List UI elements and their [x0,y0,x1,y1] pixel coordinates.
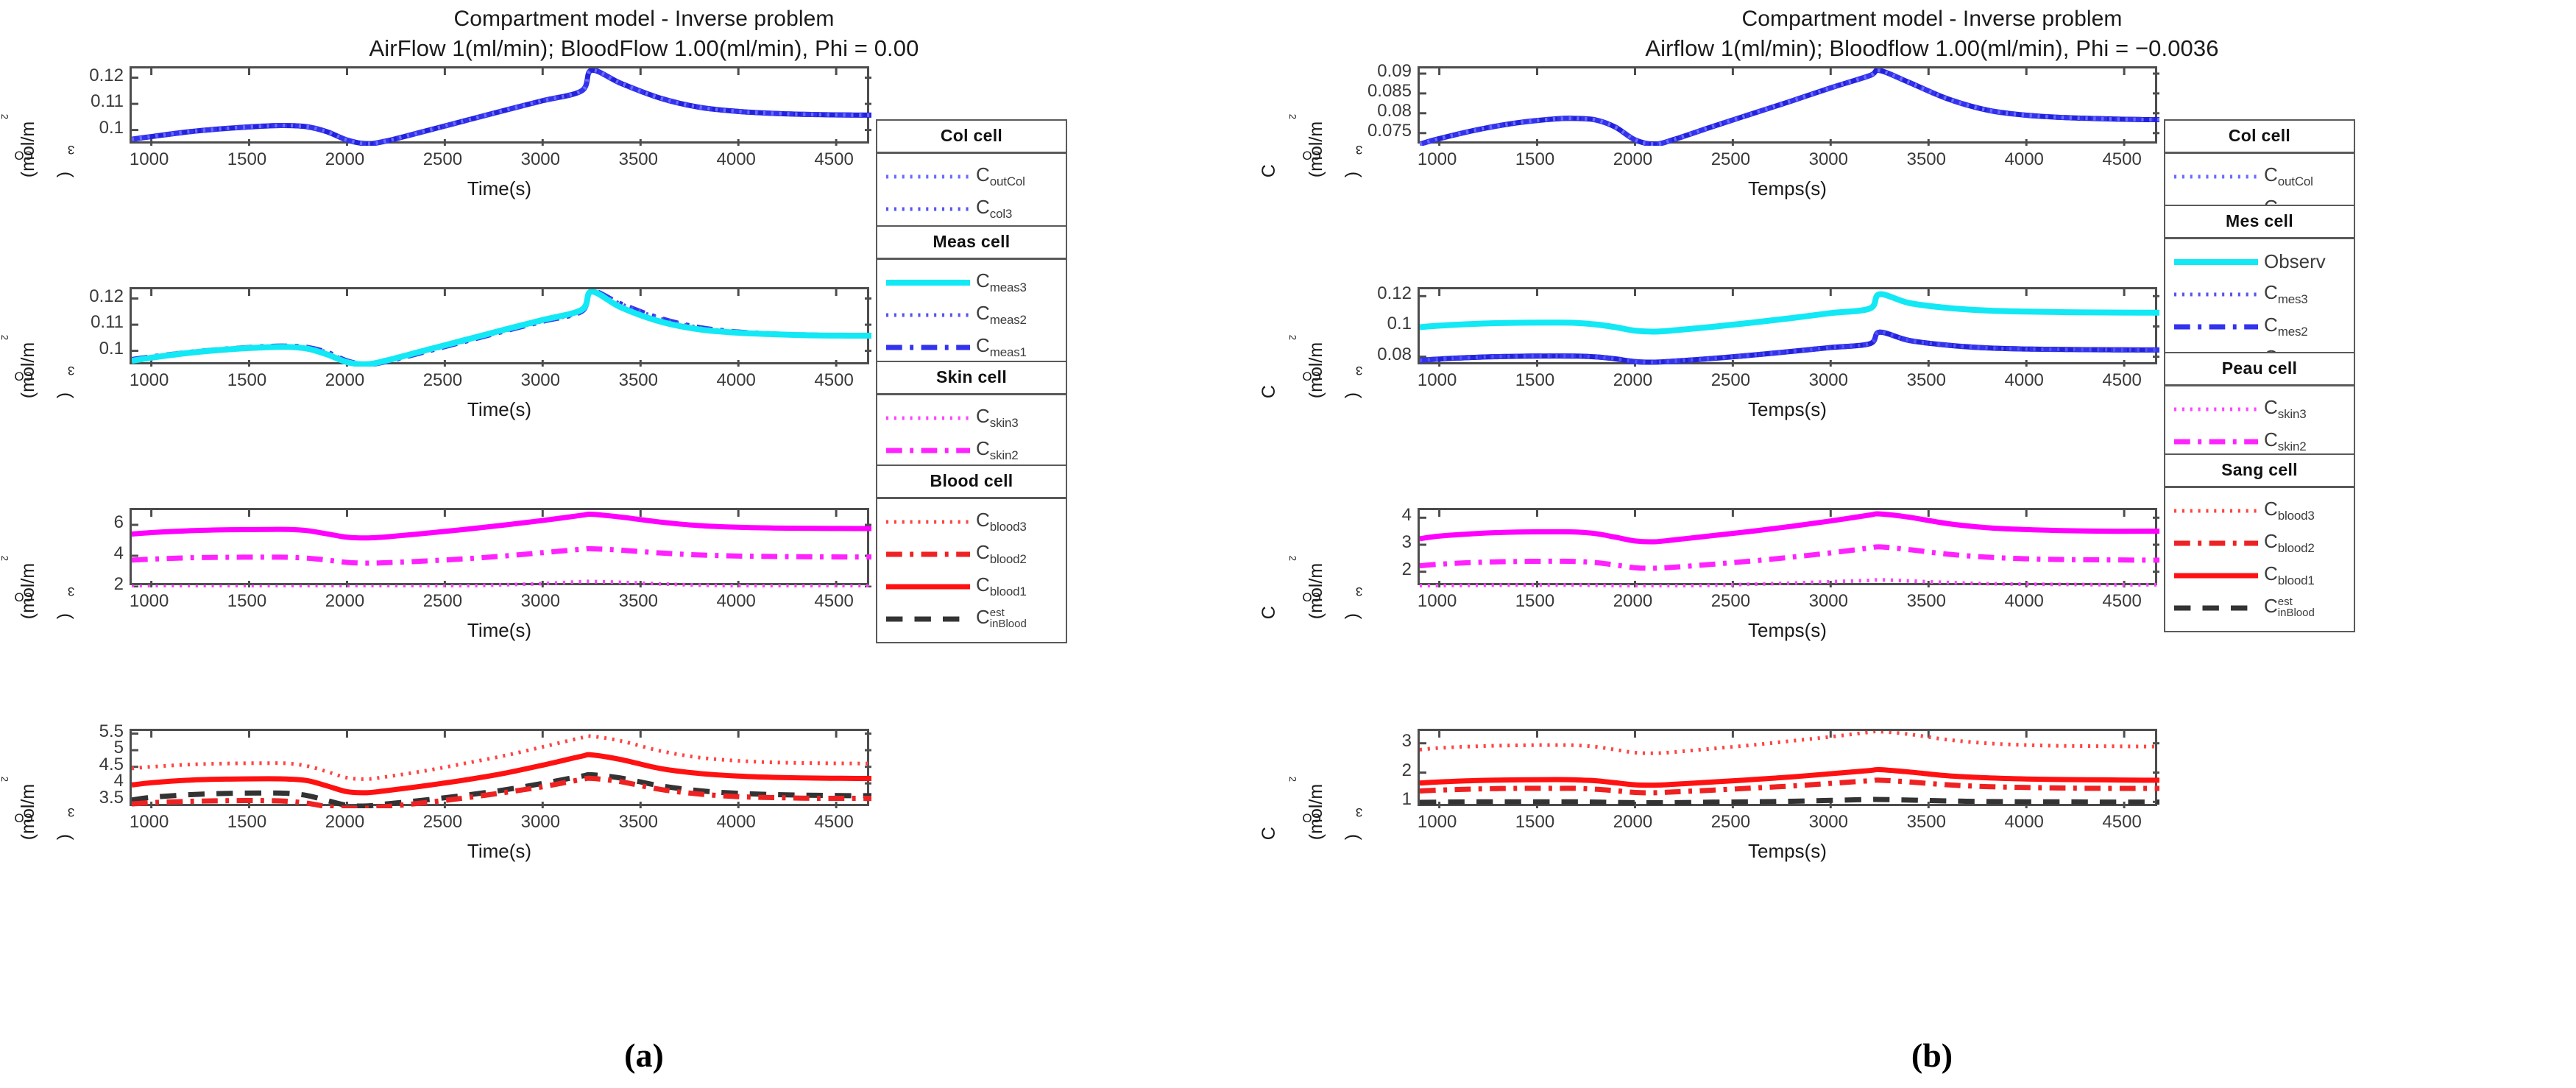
axes-wrapper: 32110001500200025003000350040004500Temps… [1329,729,2157,806]
x-tick: 2500 [423,370,462,391]
axes-wrapper: 43210001500200025003000350040004500Temps… [1329,508,2157,585]
y-axis-label: CCO2 (mol/m3) [3,499,43,683]
y-tick: 0.09 [1377,61,1412,82]
title-line-1: Compartment model - Inverse problem [1288,4,2576,34]
legend-line-swatch [885,278,972,288]
x-tick: 3500 [1907,370,1946,391]
y-tick: 2 [114,574,124,595]
legend-items: Cmeas3Cmeas2Cmeas1 [877,260,1066,370]
legend-entry[interactable]: Cmes3 [2173,278,2346,310]
x-tick: 2500 [1711,149,1750,170]
legend-label: Cblood3 [976,509,1027,531]
y-tick: 3 [1402,731,1412,752]
panel-caption: (b) [1288,1036,2576,1075]
legend-line-swatch [2173,289,2260,300]
y-tick: 1 [1402,789,1412,810]
y-axis-label: CCO2 (mol/m3) [1291,499,1331,683]
x-tick: 1500 [227,591,266,612]
x-tick: 2500 [423,149,462,170]
panel-b: Compartment model - Inverse problemAirfl… [1288,0,2576,1088]
legend-entry[interactable]: CoutCol [885,160,1058,192]
y-axis-label: CCO2 (mol/m3) [1291,57,1331,241]
x-tick: 3000 [1809,812,1848,833]
x-tick: 4000 [2004,591,2043,612]
y-tick-labels: 0.120.110.1 [41,287,128,364]
x-tick: 3000 [521,149,560,170]
x-tick: 2000 [1613,812,1652,833]
y-tick-labels: 0.120.10.08 [1329,287,1416,364]
legend-blood-cell: Blood cellCblood3Cblood2Cblood1CestinBlo… [876,464,1067,643]
legend-swatch [2173,289,2260,298]
legend-line-swatch [885,342,972,353]
x-tick: 4000 [716,149,755,170]
x-tick: 1500 [227,812,266,833]
plot-area [130,66,869,144]
y-tick: 0.075 [1367,121,1412,141]
axes-wrapper: 64210001500200025003000350040004500Time(… [41,508,869,585]
legend-label: CestinBlood [976,606,1027,628]
y-tick: 0.12 [89,66,124,86]
y-axis-label: CCO2 (mol/m3) [3,278,43,462]
legend-swatch [885,204,972,213]
subplot-col-cell: CCO2 (mol/m3)0.090.0850.080.075100015002… [1288,57,2576,278]
x-tick: 4500 [2102,149,2141,170]
legend-label: Cmeas3 [976,269,1027,292]
legend-swatch [885,172,972,180]
legend-entry[interactable]: Cblood1 [2173,559,2346,591]
legend-label: Observ [2264,250,2326,272]
legend-entry[interactable]: Cblood2 [885,537,1058,570]
legend-title: Mes cell [2165,206,2354,239]
x-tick: 3500 [619,149,658,170]
x-tick: 2000 [325,591,364,612]
x-axis-label: Temps(s) [1748,177,1827,200]
legend-line-swatch [2173,404,2260,414]
plot-area [130,729,869,806]
title-line-1: Compartment model - Inverse problem [0,4,1288,34]
legend-line-swatch [2173,603,2260,613]
legend-label: Cskin2 [976,437,1018,459]
legend-swatch [885,310,972,319]
x-axis-label: Temps(s) [1748,398,1827,421]
legend-entry[interactable]: Cmeas2 [885,298,1058,331]
legend-entry[interactable]: Cmeas3 [885,266,1058,298]
plot-area [1418,729,2157,806]
x-tick: 2000 [325,370,364,391]
legend-swatch [885,342,972,351]
x-tick: 3000 [1809,370,1848,391]
plot-area [130,287,869,364]
x-tick: 1500 [1515,149,1554,170]
legend-swatch [885,517,972,526]
x-tick: 4000 [716,370,755,391]
subplot-peau-cell: CCO2 (mol/m3)432100015002000250030003500… [1288,499,2576,720]
x-tick: 1000 [1418,591,1457,612]
legend-swatch [885,413,972,422]
legend-swatch [885,582,972,590]
subplot-mes-cell: CCO2 (mol/m3)0.120.10.081000150020002500… [1288,278,2576,499]
legend-title: Peau cell [2165,353,2354,386]
subplot-col-cell: CCO2 (mol/m3)0.120.110.11000150020002500… [0,57,1288,278]
x-axis-label: Time(s) [467,398,531,421]
y-tick: 3 [1402,532,1412,553]
y-tick: 0.12 [89,286,124,307]
y-axis-label: CCO2 (mol/m3) [3,720,43,904]
x-tick: 4500 [814,370,853,391]
legend-label: Cblood1 [976,573,1027,596]
x-tick: 3500 [619,591,658,612]
legend-line-swatch [2173,257,2260,267]
legend-sang-cell: Sang cellCblood3Cblood2Cblood1CestinBloo… [2164,453,2355,632]
x-tick: 1000 [1418,370,1457,391]
legend-swatch [2173,257,2260,266]
legend-line-swatch [885,517,972,527]
x-tick: 3500 [619,812,658,833]
legend-swatch [2173,538,2260,547]
y-tick-labels: 5.554.543.5 [41,729,128,806]
legend-swatch [2173,437,2260,445]
x-tick: 2000 [1613,149,1652,170]
x-tick: 3000 [1809,591,1848,612]
legend-line-swatch [2173,437,2260,447]
legend-label: Cmeas1 [976,334,1027,356]
x-tick: 4000 [2004,370,2043,391]
legend-line-swatch [885,582,972,592]
legend-swatch [2173,506,2260,515]
legend-line-swatch [885,549,972,559]
legend-line-swatch [885,413,972,423]
y-tick: 0.11 [91,312,124,333]
x-tick: 1000 [130,591,169,612]
x-tick: 2500 [1711,370,1750,391]
x-tick: 2000 [1613,591,1652,612]
x-tick: 3000 [521,591,560,612]
legend-swatch [885,445,972,454]
legend-entry[interactable]: CestinBlood [2173,591,2346,624]
x-tick: 1000 [130,149,169,170]
legend-line-swatch [885,614,972,624]
legend-line-swatch [2173,322,2260,332]
x-tick: 4500 [814,591,853,612]
legend-label: Cskin2 [2264,428,2306,451]
x-tick: 2500 [1711,591,1750,612]
panel-a: Compartment model - Inverse problemAirFl… [0,0,1288,1088]
legend-line-swatch [885,204,972,214]
y-tick: 2 [1402,559,1412,580]
y-tick: 0.1 [99,118,124,138]
legend-entry[interactable]: Ccol3 [885,192,1058,225]
axes-wrapper: 5.554.543.510001500200025003000350040004… [41,729,869,806]
plot-area [130,508,869,585]
legend-entry[interactable]: Cblood3 [2173,494,2346,526]
y-tick-labels: 642 [41,508,128,585]
legend-title: Meas cell [877,227,1066,260]
x-tick: 2500 [423,591,462,612]
legend-swatch [885,614,972,623]
legend-label: CoutCol [2264,163,2313,186]
y-tick: 4 [114,543,124,564]
legend-title: Col cell [2165,121,2354,154]
legend-items: Cblood3Cblood2Cblood1CestinBlood [2165,488,2354,631]
legend-entry[interactable]: Cmes2 [2173,310,2346,342]
x-tick: 4000 [2004,149,2043,170]
y-tick: 0.08 [1377,345,1412,365]
legend-line-swatch [885,445,972,456]
legend-entry[interactable]: CoutCol [2173,160,2346,192]
x-tick: 1000 [130,812,169,833]
legend-line-swatch [885,310,972,320]
panel-caption: (a) [0,1036,1288,1075]
figure-root: Compartment model - Inverse problemAirFl… [0,0,2576,1088]
legend-swatch [2173,322,2260,331]
legend-label: Cmeas2 [976,302,1027,324]
subplot-sang-cell: CCO2 (mol/m3)321100015002000250030003500… [1288,720,2576,941]
x-tick: 3000 [521,370,560,391]
subplot-meas-cell: CCO2 (mol/m3)0.120.110.11000150020002500… [0,278,1288,499]
x-tick: 4000 [716,812,755,833]
x-tick: 2500 [423,812,462,833]
subplot-skin-cell: CCO2 (mol/m3)642100015002000250030003500… [0,499,1288,720]
legend-line-swatch [885,172,972,182]
x-axis-label: Temps(s) [1748,840,1827,863]
legend-label: CoutCol [976,163,1025,186]
y-tick: 2 [1402,760,1412,781]
legend-title: Col cell [877,121,1066,154]
x-tick: 3500 [619,370,658,391]
legend-label: Cblood2 [976,541,1027,563]
subplot-stack: CCO2 (mol/m3)0.120.110.11000150020002500… [0,57,1288,941]
legend-label: CestinBlood [2264,595,2315,617]
x-tick: 2000 [325,812,364,833]
legend-entry[interactable]: Cblood1 [885,570,1058,602]
x-tick: 1000 [130,370,169,391]
x-tick: 2500 [1711,812,1750,833]
plot-area [1418,287,2157,364]
plot-area [1418,66,2157,144]
legend-label: Ccol3 [976,196,1012,218]
y-tick: 4 [1402,505,1412,526]
legend-entry[interactable]: Cblood2 [2173,526,2346,559]
legend-entry[interactable]: Cmeas1 [885,331,1058,363]
y-tick: 0.1 [99,339,124,359]
legend-label: Cblood2 [2264,530,2315,552]
y-tick: 0.085 [1367,81,1412,102]
x-tick: 4000 [2004,812,2043,833]
x-tick: 1000 [1418,812,1457,833]
legend-title: Skin cell [877,362,1066,395]
axes-wrapper: 0.120.10.0810001500200025003000350040004… [1329,287,2157,364]
legend-line-swatch [2173,506,2260,516]
x-tick: 1500 [1515,591,1554,612]
legend-swatch [885,549,972,558]
axes-wrapper: 0.090.0850.080.0751000150020002500300035… [1329,66,2157,144]
x-tick: 2000 [1613,370,1652,391]
axes-wrapper: 0.120.110.110001500200025003000350040004… [41,66,869,144]
y-tick: 0.08 [1377,101,1412,121]
legend-items: Cblood3Cblood2Cblood1CestinBlood [877,499,1066,642]
legend-entry[interactable]: Cskin2 [885,434,1058,466]
legend-swatch [2173,571,2260,579]
subplot-stack: CCO2 (mol/m3)0.090.0850.080.075100015002… [1288,57,2576,941]
y-axis-label: CCO2 (mol/m3) [1291,278,1331,462]
panel-title: Compartment model - Inverse problemAirfl… [1288,4,2576,64]
x-tick: 4500 [814,812,853,833]
x-axis-label: Time(s) [467,177,531,200]
y-tick: 3.5 [99,788,124,808]
legend-label: Cskin3 [2264,396,2306,418]
x-tick: 4000 [716,591,755,612]
x-tick: 1500 [1515,812,1554,833]
legend-label: Cblood3 [2264,498,2315,520]
x-axis-label: Time(s) [467,619,531,642]
x-tick: 1000 [1418,149,1457,170]
x-axis-label: Time(s) [467,840,531,863]
legend-entry[interactable]: Cskin3 [2173,392,2346,425]
y-tick: 0.11 [91,91,124,112]
x-tick: 4500 [2102,812,2141,833]
axes-wrapper: 0.120.110.110001500200025003000350040004… [41,287,869,364]
legend-line-swatch [2173,571,2260,581]
legend-swatch [2173,172,2260,180]
x-tick: 1500 [227,149,266,170]
legend-line-swatch [2173,538,2260,548]
x-tick: 3500 [1907,812,1946,833]
legend-swatch [2173,603,2260,612]
x-tick: 1500 [1515,370,1554,391]
legend-title: Blood cell [877,466,1066,499]
legend-entry[interactable]: Cskin2 [2173,425,2346,457]
y-tick: 0.1 [1387,314,1412,334]
x-tick: 3500 [1907,149,1946,170]
x-tick: 3500 [1907,591,1946,612]
legend-entry[interactable]: Cskin3 [885,401,1058,434]
x-tick: 1500 [227,370,266,391]
x-tick: 4500 [2102,370,2141,391]
legend-line-swatch [2173,172,2260,182]
legend-entry[interactable]: CestinBlood [885,602,1058,635]
legend-label: Cmes2 [2264,314,2308,336]
legend-title: Sang cell [2165,455,2354,488]
y-tick-labels: 0.120.110.1 [41,66,128,144]
x-axis-label: Temps(s) [1748,619,1827,642]
x-tick: 4500 [2102,591,2141,612]
y-tick-labels: 321 [1329,729,1416,806]
x-tick: 3000 [521,812,560,833]
plot-area [1418,508,2157,585]
y-tick: 6 [114,512,124,533]
y-tick: 0.12 [1377,283,1412,304]
legend-swatch [885,278,972,286]
x-tick: 2000 [325,149,364,170]
x-tick: 4500 [814,149,853,170]
y-tick-labels: 0.090.0850.080.075 [1329,66,1416,144]
legend-entry[interactable]: Observ [2173,245,2346,278]
legend-entry[interactable]: Cblood3 [885,505,1058,537]
legend-meas-cell: Meas cellCmeas3Cmeas2Cmeas1 [876,225,1067,372]
y-tick-labels: 432 [1329,508,1416,585]
legend-label: Cskin3 [976,405,1018,427]
subplot-blood-cell: CCO2 (mol/m3)5.554.543.51000150020002500… [0,720,1288,941]
legend-swatch [2173,404,2260,413]
x-tick: 3000 [1809,149,1848,170]
panel-title: Compartment model - Inverse problemAirFl… [0,4,1288,64]
y-axis-label: CCO2 (mol/m3) [1291,720,1331,904]
y-axis-label: CCO2 (mol/m3) [3,57,43,241]
legend-label: Cmes3 [2264,281,2308,303]
legend-label: Cblood1 [2264,562,2315,584]
